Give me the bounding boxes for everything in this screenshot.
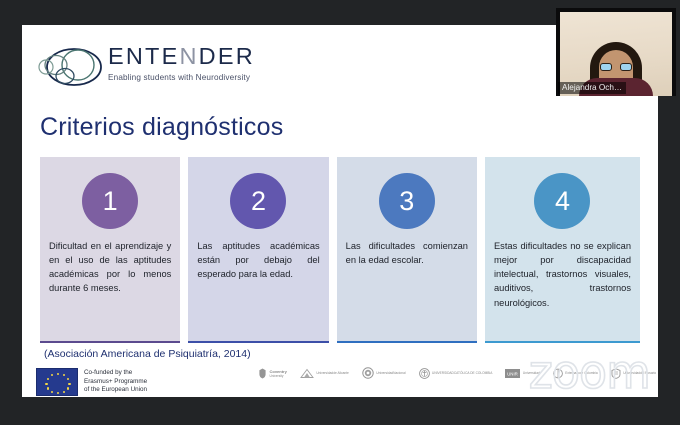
criteria-text-1: Dificultad en el aprendizaje y en el uso…	[49, 239, 171, 296]
partner-sub-nacional: Nacional	[393, 371, 405, 375]
page-title: Criterios diagnósticos	[40, 113, 283, 142]
partner-name-catolica: UNIVERSIDAD	[432, 371, 454, 375]
partner-name-externado: Externado	[565, 371, 580, 375]
partner-sub-unir: Universidad	[523, 371, 540, 375]
partner-name-alicante: Universidad	[316, 371, 333, 375]
partner-logo-unir: UNIR Universidad	[505, 369, 539, 378]
brand-word-part2: DER	[199, 43, 255, 69]
alicante-arch-icon	[300, 368, 314, 379]
partner-name-rosario: Universidad	[623, 371, 640, 375]
participant-glasses	[600, 62, 632, 71]
partner-logo-row: CoventryUniversity Universidadde Alicant…	[258, 367, 656, 379]
criteria-text-4: Estas dificultades no se explican mejor …	[494, 239, 631, 310]
participant-name-label: Alejandra Och…	[558, 82, 626, 94]
criteria-number-badge-2: 2	[230, 173, 286, 229]
catolica-seal-icon	[419, 368, 430, 379]
partner-sub-catolica: CATÓLICA DE COLOMBIA	[454, 371, 493, 375]
unir-block-icon: UNIR	[505, 369, 520, 378]
funding-line-3: of the European Union	[84, 386, 147, 395]
entender-logo: ENTENDER Enabling students with Neurodiv…	[34, 39, 284, 95]
criteria-number-badge-3: 3	[379, 173, 435, 229]
partner-sub-alicante: de Alicante	[333, 371, 349, 375]
nacional-seal-icon	[362, 367, 374, 379]
brand-tagline: Enabling students with Neurodiversity	[108, 73, 255, 82]
coventry-crest-icon	[258, 368, 267, 379]
glasses-lens-right	[620, 63, 632, 71]
entender-logo-mark	[34, 43, 104, 91]
criteria-card-list: 1 Dificultad en el aprendizaje y en el u…	[40, 157, 640, 343]
criteria-number-badge-4: 4	[534, 173, 590, 229]
participant-video-tile[interactable]: Alejandra Och…	[556, 8, 676, 96]
criteria-text-3: Las dificultades comienzan en la edad es…	[346, 239, 468, 267]
criteria-card-3: 3 Las dificultades comienzan en la edad …	[337, 157, 477, 343]
criteria-card-rule-2	[188, 341, 328, 343]
eu-funding-block: Co-funded by the Erasmus+ Programme of t…	[36, 368, 147, 396]
brand-wordmark: ENTENDER	[108, 45, 255, 69]
externado-crest-icon	[553, 368, 563, 379]
partner-logo-alicante: Universidadde Alicante	[300, 368, 349, 379]
criteria-card-1: 1 Dificultad en el aprendizaje y en el u…	[40, 157, 180, 343]
criteria-number-badge-1: 1	[82, 173, 138, 229]
partner-logo-externado: Externadode Colombia	[553, 368, 598, 379]
criteria-card-rule-3	[337, 341, 477, 343]
criteria-card-2: 2 Las aptitudes académicas están por deb…	[188, 157, 328, 343]
funding-statement: Co-funded by the Erasmus+ Programme of t…	[84, 369, 147, 396]
zoom-meeting-window: ENTENDER Enabling students with Neurodiv…	[0, 0, 680, 425]
criteria-card-rule-4	[485, 341, 640, 343]
source-citation: (Asociación Americana de Psiquiatría, 20…	[44, 348, 251, 360]
partner-logo-nacional: UniversidadNacional	[362, 367, 406, 379]
partner-sub-coventry: University	[270, 374, 284, 378]
partner-sub-rosario: del Rosario	[640, 371, 656, 375]
partner-name-nacional: Universidad	[376, 371, 393, 375]
partner-logo-rosario: Universidaddel Rosario	[611, 368, 656, 379]
criteria-text-2: Las aptitudes académicas están por debaj…	[197, 239, 319, 281]
partner-logo-catolica: UNIVERSIDADCATÓLICA DE COLOMBIA	[419, 368, 493, 379]
brand-word-soft: N	[179, 43, 198, 69]
slide-footer: Co-funded by the Erasmus+ Programme of t…	[22, 361, 658, 397]
funding-line-2: Erasmus+ Programme	[84, 378, 147, 387]
brand-word-part1: ENTE	[108, 43, 179, 69]
svg-text:UNIR: UNIR	[508, 371, 519, 376]
rosario-crest-icon	[611, 368, 621, 379]
funding-line-1: Co-funded by the	[84, 369, 147, 378]
partner-logo-coventry: CoventryUniversity	[258, 368, 287, 379]
criteria-card-rule-1	[40, 341, 180, 343]
partner-sub-externado: de Colombia	[580, 371, 598, 375]
glasses-lens-left	[600, 63, 612, 71]
european-union-flag-icon	[36, 368, 78, 396]
criteria-card-4: 4 Estas dificultades no se explican mejo…	[485, 157, 640, 343]
